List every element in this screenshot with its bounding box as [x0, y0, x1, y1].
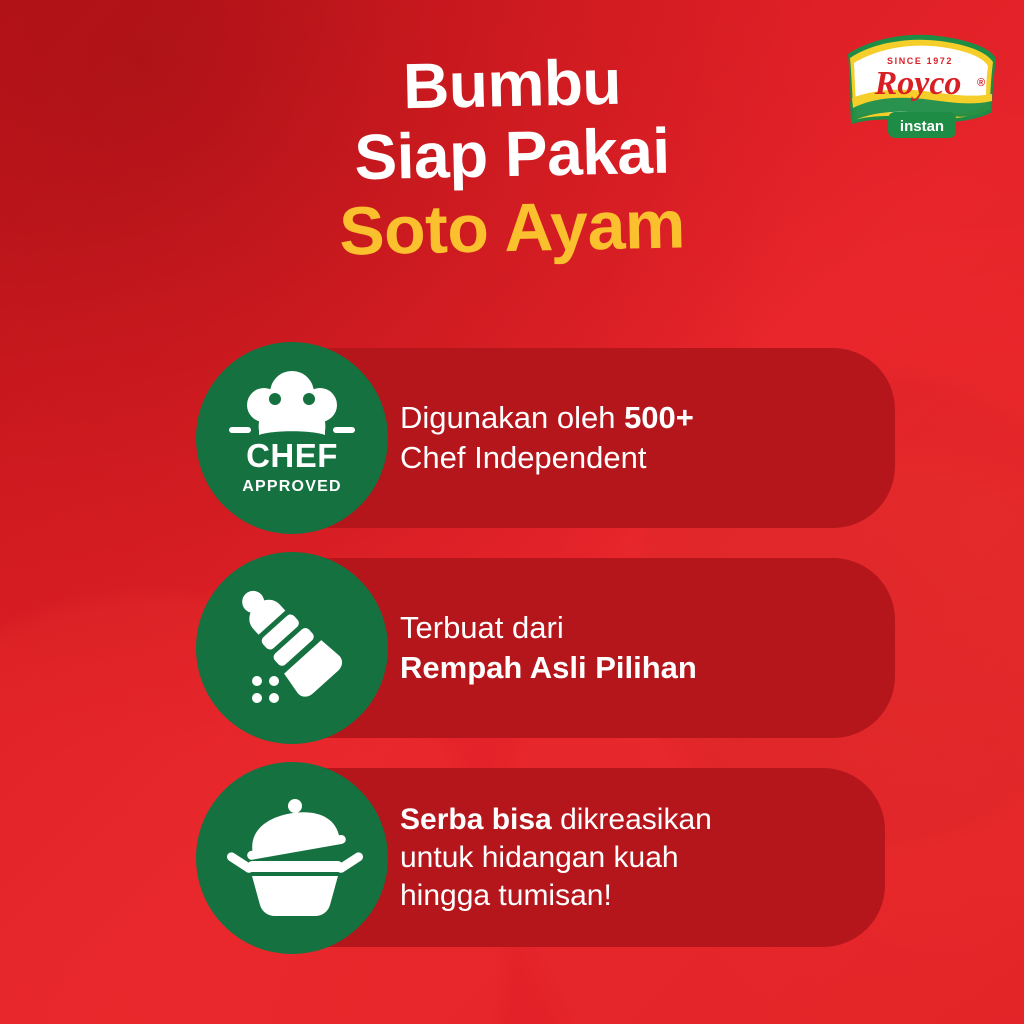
- spice-grinder-icon: [225, 575, 346, 701]
- text-segment: Digunakan oleh: [400, 400, 624, 435]
- feature-text: Digunakan oleh 500+ Chef Independent: [400, 348, 900, 528]
- serving-pot-icon: [225, 799, 365, 916]
- chef-hat-icon: [247, 371, 337, 435]
- headline-line-3: Soto Ayam: [0, 183, 1024, 272]
- feature-item: Serba bisa dikreasikan untuk hidangan ku…: [0, 768, 1024, 948]
- feature-text-line: Terbuat dari: [400, 608, 900, 648]
- spice-badge: [196, 552, 388, 744]
- pot-badge: [196, 762, 388, 954]
- feature-text-line: Chef Independent: [400, 438, 900, 478]
- headline: Bumbu Siap Pakai Soto Ayam: [0, 52, 1024, 262]
- text-segment: Chef Independent: [400, 440, 647, 475]
- text-segment: Terbuat dari: [400, 610, 564, 645]
- text-segment: untuk hidangan kuah: [400, 841, 679, 874]
- feature-item: Terbuat dari Rempah Asli Pilihan: [0, 558, 1024, 738]
- text-segment-bold: 500+: [624, 400, 694, 435]
- chef-badge-title: CHEF: [246, 437, 338, 474]
- feature-text-line: Rempah Asli Pilihan: [400, 648, 900, 688]
- feature-text-line: hingga tumisan!: [400, 877, 900, 915]
- spice-grains-icon: [252, 676, 279, 703]
- text-segment: hingga tumisan!: [400, 879, 612, 912]
- feature-text-line: Serba bisa dikreasikan: [400, 801, 900, 839]
- feature-text: Terbuat dari Rempah Asli Pilihan: [400, 558, 900, 738]
- feature-item: CHEF APPROVED Digunakan oleh 500+ Chef I…: [0, 348, 1024, 528]
- text-segment: dikreasikan: [552, 803, 712, 836]
- feature-text-line: untuk hidangan kuah: [400, 839, 900, 877]
- feature-list: CHEF APPROVED Digunakan oleh 500+ Chef I…: [0, 348, 1024, 978]
- feature-text-line: Digunakan oleh 500+: [400, 398, 900, 438]
- chef-badge-subtitle: APPROVED: [242, 478, 341, 495]
- poster-root: SINCE 1972 Royco ® instan Bumbu Siap Pak…: [0, 0, 1024, 1024]
- text-segment-bold: Rempah Asli Pilihan: [400, 650, 697, 685]
- headline-line-2: Siap Pakai: [0, 111, 1024, 196]
- text-segment-bold: Serba bisa: [400, 803, 552, 836]
- feature-text: Serba bisa dikreasikan untuk hidangan ku…: [400, 768, 900, 948]
- chef-approved-badge: CHEF APPROVED: [196, 342, 388, 534]
